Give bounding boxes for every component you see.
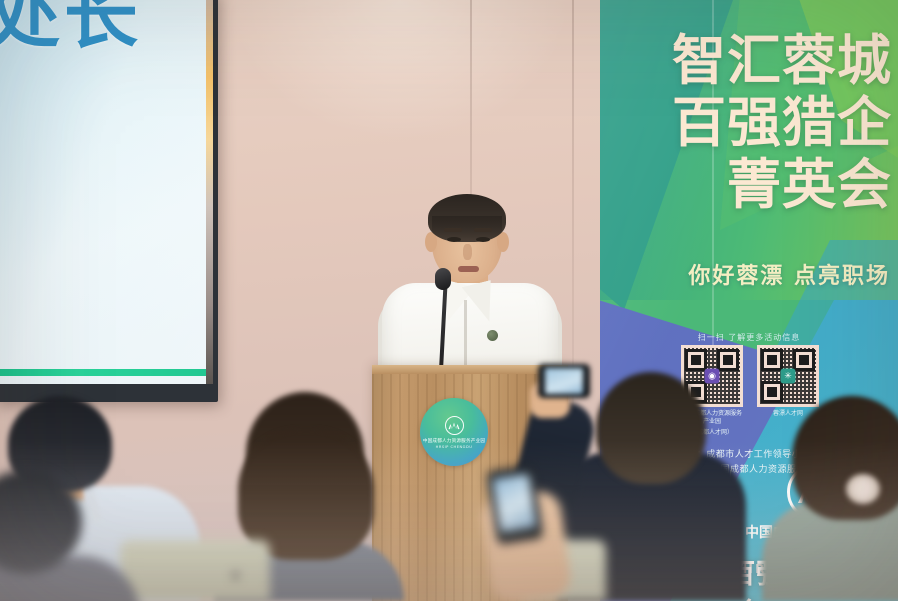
ceiling-light-glow — [230, 0, 570, 140]
projection-screen: 处长 — [0, 0, 218, 402]
chair-back — [120, 540, 270, 601]
speaker-eyebrow-left — [444, 228, 462, 232]
hair-clip-icon — [846, 474, 880, 504]
wall-seam — [572, 0, 574, 470]
speaker-eye-left — [447, 237, 461, 242]
backdrop-subtitle: 你好蓉漂 点亮职场 — [600, 258, 898, 290]
speaker-eye-right — [476, 237, 490, 242]
podium-emblem-icon — [445, 416, 464, 435]
backdrop-title-line-1: 智汇蓉城 — [600, 30, 892, 92]
speaker-eyebrow-right — [474, 228, 492, 232]
qr-finder-topleft — [761, 349, 783, 371]
projection-screen-text: 处长 — [0, 0, 142, 63]
speaker-nose — [463, 244, 472, 260]
qr-center-logo: ✳ — [781, 369, 796, 384]
speaker-badge-button — [487, 330, 498, 341]
projection-screen-surface: 处长 — [0, 0, 206, 384]
backdrop-title-line-3: 菁英会 — [600, 154, 892, 216]
qr-finder-topright — [717, 349, 739, 371]
qr-code-icon: ✳ — [757, 345, 819, 407]
qr-finder-bottomleft — [761, 381, 783, 403]
audience-center-right-head — [596, 372, 706, 484]
qr-finder-topleft — [685, 349, 707, 371]
qr-finder-topright — [793, 349, 815, 371]
backdrop-title: 智汇蓉城 百强猎企 菁英会 — [600, 30, 898, 216]
qr-center-logo: ◉ — [705, 369, 720, 384]
phone-screen — [545, 368, 583, 394]
chair-screw — [232, 572, 239, 579]
audience-right-hair — [792, 396, 898, 520]
podium-emblem: 中国成都人力资源服务产业园 HRSIP CHENGDU — [420, 398, 488, 466]
scan-hint-text: 扫一扫 了解更多活动信息 — [600, 332, 898, 343]
speaker-mouth — [458, 266, 479, 272]
photo-scene: 处长 智汇蓉城 百强猎企 菁英会 你好蓉漂 点亮职场 扫一扫 了解更多活动信息 — [0, 0, 898, 601]
screen-accent-bar — [0, 369, 206, 376]
backdrop-title-line-2: 百强猎企 — [600, 92, 892, 154]
microphone-icon — [435, 268, 451, 290]
podium-emblem-english: HRSIP CHENGDU — [436, 445, 473, 449]
podium-emblem-chinese: 中国成都人力资源服务产业园 — [423, 438, 485, 444]
screen-edge-reflection — [206, 0, 213, 384]
speaker-hair — [428, 194, 506, 242]
